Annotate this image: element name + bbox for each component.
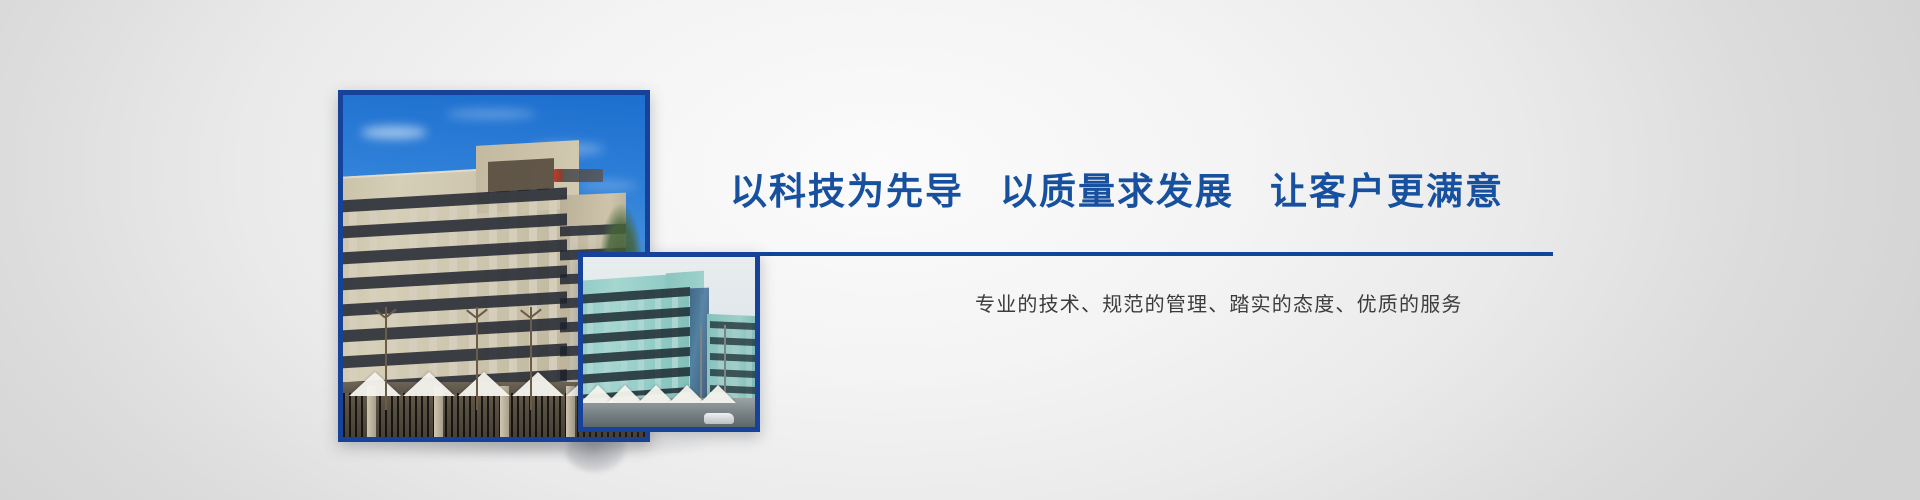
building-signage	[554, 169, 602, 183]
company-hero-banner: 以科技为先导以质量求发展让客户更满意 专业的技术、规范的管理、踏实的态度、优质的…	[0, 0, 1920, 500]
tent-row-secondary	[583, 379, 755, 403]
headline-segment-2: 以质量求发展	[1000, 170, 1234, 214]
headline-divider-rule	[745, 252, 1553, 256]
headline-segment-1: 以科技为先导	[730, 170, 964, 214]
banner-headline: 以科技为先导以质量求发展让客户更满意	[730, 170, 1504, 214]
white-tent	[512, 372, 564, 396]
bare-sapling	[530, 307, 532, 410]
cloud-shape	[361, 126, 427, 139]
photo-secondary-scene	[583, 257, 755, 427]
headline-segment-3: 让客户更满意	[1270, 170, 1504, 214]
cloud-shape	[446, 109, 536, 119]
building-roof-recess	[488, 158, 554, 192]
photo-office-building-secondary[interactable]	[578, 252, 760, 432]
bare-sapling	[385, 307, 387, 410]
white-tent	[458, 372, 510, 396]
white-tent	[403, 372, 455, 396]
white-tent	[349, 372, 401, 396]
bare-sapling	[476, 307, 478, 410]
white-tent	[700, 385, 736, 403]
parked-car	[704, 413, 734, 424]
banner-subtitle: 专业的技术、规范的管理、踏实的态度、优质的服务	[975, 288, 1463, 317]
